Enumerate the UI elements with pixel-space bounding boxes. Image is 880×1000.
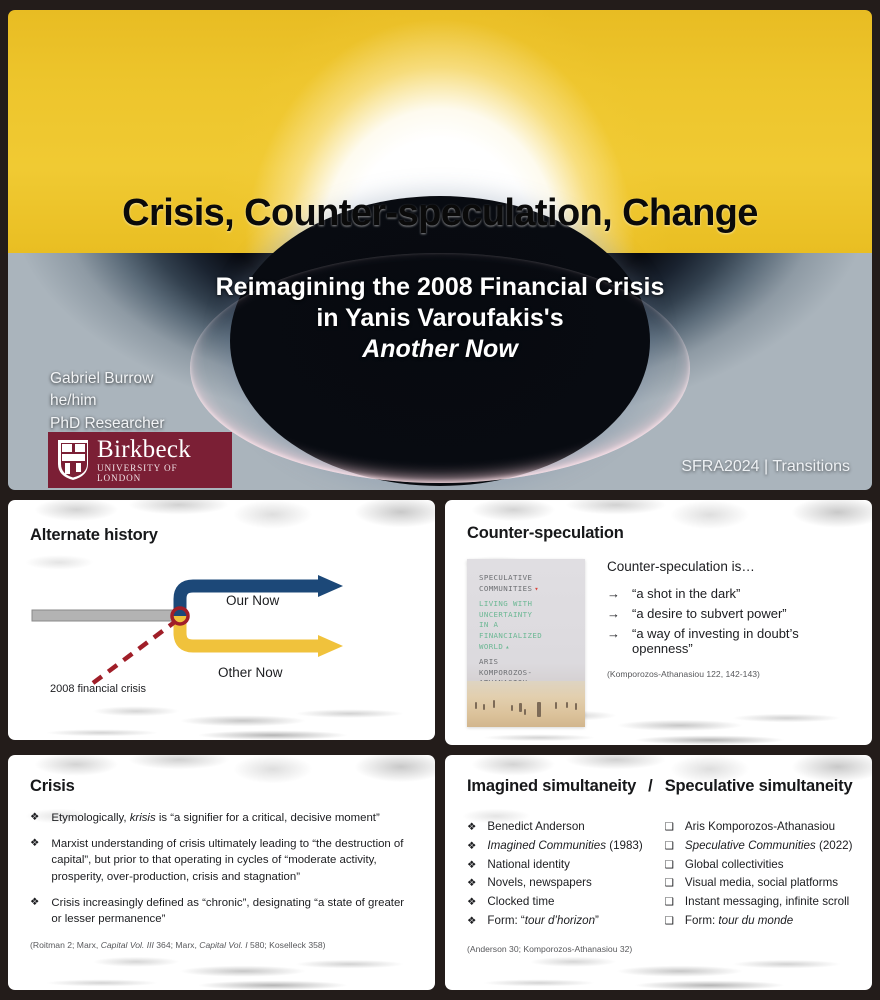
label-our-now: Our Now <box>226 593 279 608</box>
list-item: ❖ Clocked time <box>467 893 661 912</box>
list-item: ❖ Benedict Anderson <box>467 818 661 837</box>
timeline-fork-diagram: Our Now Other Now 2008 financial crisis <box>30 555 420 705</box>
simultaneity-headings: Imagined simultaneity / Speculative simu… <box>467 777 854 796</box>
list-item-label: “a desire to subvert power” <box>632 606 787 621</box>
floret-bullet-icon: ❖ <box>467 894 476 911</box>
hollow-square-bullet-icon: ❑ <box>665 875 674 892</box>
list-item-label: Crisis increasingly defined as “chronic”… <box>51 895 409 927</box>
counter-speculation-text: Counter-speculation is… → “a shot in the… <box>607 559 872 727</box>
floret-bullet-icon: ❖ <box>467 875 476 892</box>
crisis-content: Crisis ❖ Etymologically, krisis is “a si… <box>8 755 435 990</box>
logo-name: Birkbeck <box>97 437 224 462</box>
slide-deck: Crisis, Counter-speculation, Change Reim… <box>0 0 880 1000</box>
book-subtitle-line-2: UNCERTAINTY <box>479 610 585 621</box>
arrow-right-icon: → <box>607 586 620 601</box>
logo-wordmark: Birkbeck UNIVERSITY OF LONDON <box>97 437 224 482</box>
presenter-pronouns: he/him <box>50 390 165 412</box>
book-subtitle-line-5: WORLD <box>479 642 585 653</box>
slide-crisis[interactable]: Crisis ❖ Etymologically, krisis is “a si… <box>8 755 435 990</box>
hollow-square-bullet-icon: ❑ <box>665 857 674 874</box>
other-now-arrowhead <box>318 635 343 657</box>
book-title-line-2: COMMUNITIES <box>479 584 585 595</box>
subtitle-line-1: Reimagining the 2008 Financial <box>216 273 588 301</box>
simultaneity-content: Imagined simultaneity / Speculative simu… <box>445 755 872 990</box>
crisis-dashed-line <box>93 621 176 683</box>
book-subtitle-line-1: LIVING WITH <box>479 599 585 610</box>
list-item: ❖ Novels, newspapers <box>467 874 661 893</box>
book-title-line-1: SPECULATIVE <box>479 573 585 584</box>
slide-title-counter-speculation: Counter-speculation <box>467 524 872 543</box>
list-item-label: Novels, newspapers <box>487 874 591 893</box>
book-author-line-2: KOMPOROZOS- <box>479 668 585 679</box>
slide-row-1: Alternate history <box>8 500 872 745</box>
list-item-label: Visual media, social platforms <box>685 874 838 893</box>
floret-bullet-icon: ❖ <box>467 913 476 930</box>
list-item: ❑ Visual media, social platforms <box>665 874 855 893</box>
list-item-label: Global collectivities <box>685 856 784 875</box>
list-item: → “a shot in the dark” <box>607 586 858 601</box>
book-subtitle-line-3: IN A <box>479 620 585 631</box>
list-item: ❖ Imagined Communities (1983) <box>467 837 661 856</box>
counter-speculation-body: SPECULATIVE COMMUNITIES LIVING WITH UNCE… <box>467 559 872 727</box>
book-cover-speculative-communities: SPECULATIVE COMMUNITIES LIVING WITH UNCE… <box>467 559 585 727</box>
hollow-square-bullet-icon: ❑ <box>665 894 674 911</box>
list-item: ❖ Form: “tour d’horizon” <box>467 912 661 931</box>
list-item-label: Etymologically, krisis is “a signifier f… <box>51 810 379 826</box>
list-item-label: “a shot in the dark” <box>632 586 740 601</box>
list-item: → “a desire to subvert power” <box>607 606 858 621</box>
list-item: ❑ Form: tour du monde <box>665 912 855 931</box>
hollow-square-bullet-icon: ❑ <box>665 913 674 930</box>
beach-photo <box>467 681 585 727</box>
hollow-square-bullet-icon: ❑ <box>665 819 674 836</box>
presenter-block: Gabriel Burrow he/him PhD Researcher <box>50 368 165 435</box>
list-item-label: Clocked time <box>487 893 554 912</box>
list-item: ❖ Crisis increasingly defined as “chroni… <box>30 895 409 927</box>
past-timeline-bar <box>32 610 182 621</box>
slide-simultaneity[interactable]: Imagined simultaneity / Speculative simu… <box>445 755 872 990</box>
presentation-title: Crisis, Counter-speculation, Change <box>8 192 872 235</box>
list-item-label: Form: “tour d’horizon” <box>487 912 598 931</box>
list-item: ❑ Speculative Communities (2022) <box>665 837 855 856</box>
slide-title-alternate-history: Alternate history <box>30 526 435 545</box>
other-now-arrow-path <box>180 616 323 646</box>
subtitle-book-title: Another Now <box>210 334 670 365</box>
logo-tagline: UNIVERSITY OF LONDON <box>97 464 224 482</box>
hollow-square-bullet-icon: ❑ <box>665 838 674 855</box>
list-item: ❖ Etymologically, krisis is “a signifier… <box>30 810 409 826</box>
floret-bullet-icon: ❖ <box>30 836 39 885</box>
list-item-label: “a way of investing in doubt’s openness” <box>632 626 858 656</box>
conference-tag: SFRA2024 | Transitions <box>681 458 850 476</box>
citation-simultaneity: (Anderson 30; Komporozos-Athanasiou 32) <box>467 944 661 954</box>
arrow-right-icon: → <box>607 606 620 621</box>
slide-row-2: Crisis ❖ Etymologically, krisis is “a si… <box>8 755 872 990</box>
list-item: ❑ Instant messaging, infinite scroll <box>665 893 855 912</box>
citation-counter-speculation: (Komporozos-Athanasiou 122, 142-143) <box>607 669 858 679</box>
slide-counter-speculation[interactable]: Counter-speculation SPECULATIVE COMMUNIT… <box>445 500 872 745</box>
heading-separator: / <box>648 777 653 796</box>
slide-title-crisis: Crisis <box>30 777 409 796</box>
list-item-label: Instant messaging, infinite scroll <box>685 893 849 912</box>
title-slide[interactable]: Crisis, Counter-speculation, Change Reim… <box>8 10 872 490</box>
slide-title-imagined-simultaneity: Imagined simultaneity <box>467 777 636 796</box>
list-item-label: Speculative Communities (2022) <box>685 837 853 856</box>
crisis-bullet-list: ❖ Etymologically, krisis is “a signifier… <box>30 810 409 927</box>
floret-bullet-icon: ❖ <box>467 857 476 874</box>
presenter-name: Gabriel Burrow <box>50 368 165 390</box>
book-subtitle-line-4: FINANCIALIZED <box>479 631 585 642</box>
shield-crest-icon <box>56 438 90 482</box>
counter-speculation-lead: Counter-speculation is… <box>607 559 858 574</box>
simultaneity-columns: ❖ Benedict Anderson ❖ Imagined Communiti… <box>467 818 854 954</box>
label-2008-financial-crisis: 2008 financial crisis <box>50 683 146 695</box>
counter-speculation-content: Counter-speculation SPECULATIVE COMMUNIT… <box>445 500 872 745</box>
list-item-label: Aris Komporozos-Athanasiou <box>685 818 835 837</box>
slide-alternate-history[interactable]: Alternate history <box>8 500 435 740</box>
presentation-subtitle: Reimagining the 2008 Financial Crisis in… <box>210 272 670 365</box>
arrow-right-icon: → <box>607 626 620 641</box>
list-item: ❖ National identity <box>467 856 661 875</box>
list-item: ❑ Global collectivities <box>665 856 855 875</box>
alternate-history-content: Alternate history <box>8 500 435 740</box>
list-item-label: Benedict Anderson <box>487 818 584 837</box>
imagined-simultaneity-list: ❖ Benedict Anderson ❖ Imagined Communiti… <box>467 818 661 954</box>
floret-bullet-icon: ❖ <box>467 819 476 836</box>
birkbeck-logo: Birkbeck UNIVERSITY OF LONDON <box>48 432 232 488</box>
citation-crisis: (Roitman 2; Marx, Capital Vol. III 364; … <box>30 940 409 950</box>
speculative-simultaneity-list: ❑ Aris Komporozos-Athanasiou ❑ Speculati… <box>661 818 855 954</box>
floret-bullet-icon: ❖ <box>467 838 476 855</box>
list-item-label: Form: tour du monde <box>685 912 793 931</box>
list-item: → “a way of investing in doubt’s opennes… <box>607 626 858 656</box>
label-other-now: Other Now <box>218 665 283 680</box>
floret-bullet-icon: ❖ <box>30 810 39 826</box>
list-item: ❖ Marxist understanding of crisis ultima… <box>30 836 409 885</box>
book-author-line-1: ARIS <box>479 657 585 668</box>
list-item-label: Imagined Communities (1983) <box>487 837 642 856</box>
slide-title-speculative-simultaneity: Speculative simultaneity <box>665 777 853 796</box>
list-item-label: National identity <box>487 856 570 875</box>
list-item-label: Marxist understanding of crisis ultimate… <box>51 836 409 885</box>
list-item: ❑ Aris Komporozos-Athanasiou <box>665 818 855 837</box>
floret-bullet-icon: ❖ <box>30 895 39 927</box>
our-now-arrowhead <box>318 575 343 597</box>
